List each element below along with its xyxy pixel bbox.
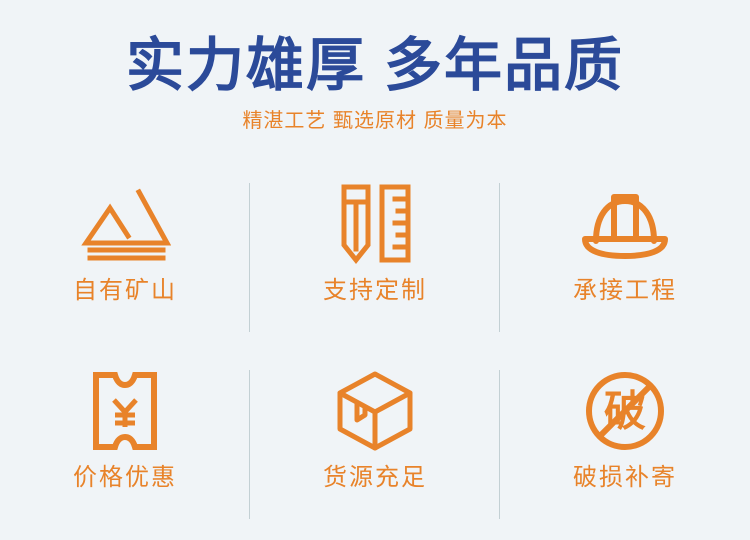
page-subtitle: 精湛工艺 甄选原材 质量为本: [0, 100, 750, 133]
banner-header: 实力雄厚 多年品质 精湛工艺 甄选原材 质量为本: [0, 0, 750, 133]
feature-item-customization[interactable]: 支持定制: [250, 165, 500, 352]
no-break-icon: 破: [583, 368, 667, 454]
pencil-ruler-icon: [335, 181, 415, 267]
feature-item-ample-supply[interactable]: 货源充足: [250, 352, 500, 539]
page-title: 实力雄厚 多年品质: [0, 0, 750, 100]
package-box-icon: [334, 368, 416, 454]
feature-grid: 自有矿山 支持定制: [0, 165, 750, 539]
promo-banner: 实力雄厚 多年品质 精湛工艺 甄选原材 质量为本 自有矿山: [0, 0, 750, 540]
feature-label: 破损补寄: [573, 464, 677, 493]
feature-label: 价格优惠: [73, 464, 177, 493]
feature-item-own-mine[interactable]: 自有矿山: [0, 165, 250, 352]
feature-label: 自有矿山: [73, 277, 177, 306]
hard-hat-icon: [576, 181, 674, 267]
feature-item-price-discount[interactable]: 价格优惠: [0, 352, 250, 539]
feature-label: 支持定制: [323, 277, 427, 306]
feature-label: 货源充足: [323, 464, 427, 493]
feature-label: 承接工程: [573, 277, 677, 306]
mountain-icon: [79, 181, 171, 267]
feature-item-breakage-reship[interactable]: 破 破损补寄: [500, 352, 750, 539]
feature-item-engineering[interactable]: 承接工程: [500, 165, 750, 352]
yen-coupon-icon: [89, 368, 161, 454]
